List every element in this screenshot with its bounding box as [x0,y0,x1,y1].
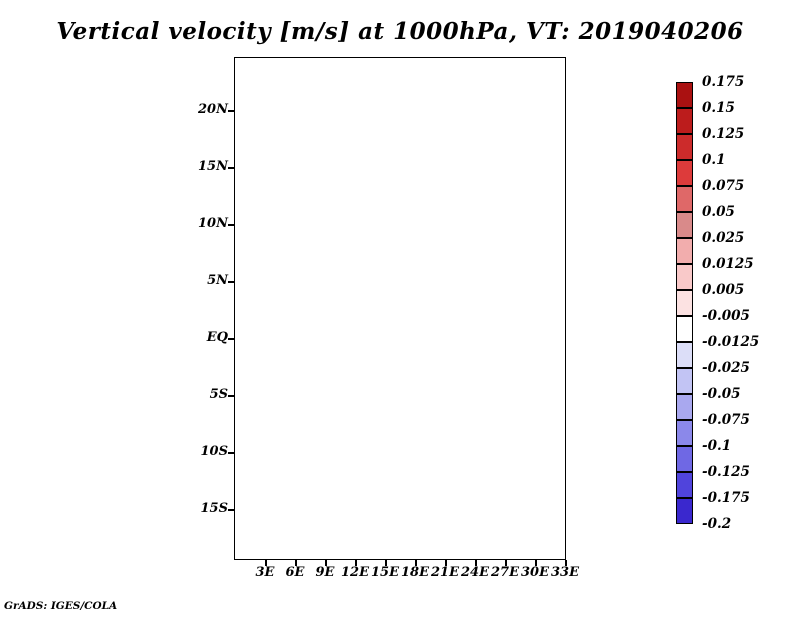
colorbar-band-10[interactable] [676,342,693,368]
colorbar-band-0[interactable] [676,82,693,108]
colorbar-band-13[interactable] [676,420,693,446]
page-title: Vertical velocity [m/s] at 1000hPa, VT: … [0,18,800,45]
y-axis-label-10n: 10N [186,216,228,231]
colorbar-label--0.025: -0.025 [702,360,750,376]
y-tick-eq [228,338,234,340]
y-axis-label-20n: 20N [186,102,228,117]
y-axis-label-10s: 10S [186,444,228,459]
y-tick-5s [228,395,234,397]
map-plot-area[interactable]: 20N 15N 10N 5N EQ 5S 10S 15S 3E 6E 9E 12… [234,57,566,560]
colorbar-band-5[interactable] [676,212,693,238]
colorbar-label-0.005: 0.005 [702,282,744,298]
colorbar-label-0.15: 0.15 [702,100,735,116]
colorbar-band-16[interactable] [676,498,693,524]
colorbar-band-6[interactable] [676,238,693,264]
colorbar-band-3[interactable] [676,160,693,186]
colorbar-band-12[interactable] [676,394,693,420]
y-axis-label-eq: EQ [186,330,228,345]
colorbar-label-0.175: 0.175 [702,74,744,90]
colorbar-label--0.075: -0.075 [702,412,750,428]
y-tick-15s [228,509,234,511]
grads-attribution: GrADS: IGES/COLA [4,600,117,612]
y-tick-15n [228,167,234,169]
y-axis-label-15s: 15S [186,501,228,516]
colorbar-band-1[interactable] [676,108,693,134]
colorbar-label-0.025: 0.025 [702,230,744,246]
colorbar-band-11[interactable] [676,368,693,394]
colorbar-label--0.2: -0.2 [702,516,731,532]
colorbar-band-4[interactable] [676,186,693,212]
y-tick-5n [228,281,234,283]
colorbar-label-0.1: 0.1 [702,152,726,168]
colorbar-band-14[interactable] [676,446,693,472]
colorbar-label-0.075: 0.075 [702,178,744,194]
y-tick-10n [228,224,234,226]
colorbar-band-9[interactable] [676,316,693,342]
y-axis-label-5n: 5N [186,273,228,288]
y-tick-20n [228,110,234,112]
colorbar-label-0.0125: 0.0125 [702,256,754,272]
colorbar-label--0.1: -0.1 [702,438,731,454]
colorbar-label--0.005: -0.005 [702,308,750,324]
colorbar-label-0.05: 0.05 [702,204,735,220]
colorbar-label-0.125: 0.125 [702,126,744,142]
x-axis-label-33e: 33E [541,565,589,580]
colorbar-band-15[interactable] [676,472,693,498]
y-axis-label-15n: 15N [186,159,228,174]
colorbar-label--0.0125: -0.0125 [702,334,759,350]
colorbar-label--0.175: -0.175 [702,490,750,506]
y-axis-label-5s: 5S [186,387,228,402]
colorbar[interactable]: 0.175 0.15 0.125 0.1 0.075 0.05 0.025 0.… [676,82,693,524]
colorbar-label--0.125: -0.125 [702,464,750,480]
map-frame [234,57,566,560]
y-tick-10s [228,452,234,454]
colorbar-band-2[interactable] [676,134,693,160]
colorbar-label--0.05: -0.05 [702,386,740,402]
colorbar-band-7[interactable] [676,264,693,290]
colorbar-band-8[interactable] [676,290,693,316]
